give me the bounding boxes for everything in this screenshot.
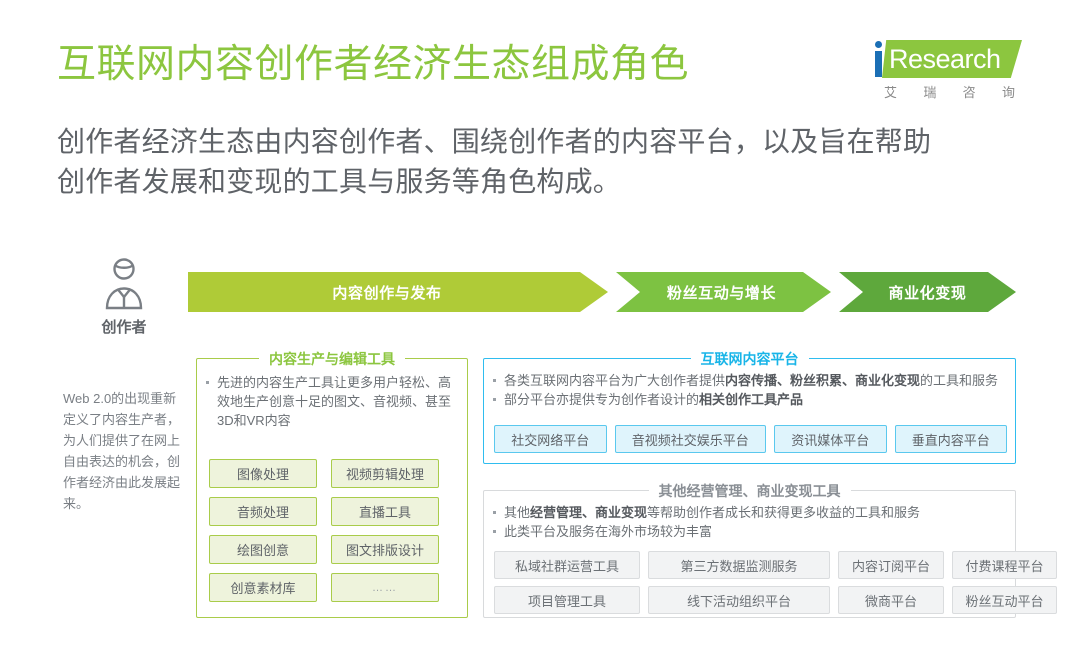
panel-internet-content-platform: 互联网内容平台 各类互联网内容平台为广大创作者提供内容传播、粉丝积累、商业化变现…: [483, 358, 1016, 464]
creator-persona-label: 创作者: [78, 316, 170, 337]
bullet-item: 其他经营管理、商业变现等帮助创作者成长和获得更多收益的工具和服务: [490, 503, 1007, 522]
platform-chip: 垂直内容平台: [895, 425, 1008, 453]
page-subtitle: 创作者经济生态由内容创作者、围绕创作者的内容平台，以及旨在帮助创作者发展和变现的…: [57, 122, 937, 202]
production-tool-chip: 直播工具: [331, 497, 439, 526]
bullet-text: 各类互联网内容平台为广大创作者提供: [504, 373, 725, 388]
production-tool-chip: 图文排版设计: [331, 535, 439, 564]
bullet-emphasis: 内容传播、粉丝积累、商业化变现: [725, 373, 920, 388]
bullet-emphasis: 相关创作工具产品: [699, 392, 803, 407]
bullet-text: 的工具和服务: [920, 373, 998, 388]
bullet-text: 此类平台及服务在海外市场较为丰富: [504, 524, 712, 539]
logo-mark: Research: [872, 40, 1022, 78]
other-tool-chip: 私域社群运营工具: [494, 551, 640, 579]
panel-other-business-tools: 其他经营管理、商业变现工具 其他经营管理、商业变现等帮助创作者成长和获得更多收益…: [483, 490, 1016, 618]
iresearch-logo: Research 艾 瑞 咨 询: [872, 40, 1022, 102]
bullet-item: 先进的内容生产工具让更多用户轻松、高效地生产创意十足的图文、音视频、甚至3D和V…: [203, 373, 455, 430]
process-stage-label-1: 内容创作与发布: [332, 282, 463, 303]
other-tool-chip: 内容订阅平台: [838, 551, 944, 579]
panel-internet-content-platform-legend: 互联网内容平台: [691, 349, 809, 369]
bullet-text: 等帮助创作者成长和获得更多收益的工具和服务: [647, 505, 920, 520]
bullet-text: 先进的内容生产工具让更多用户轻松、高效地生产创意十足的图文、音视频、甚至3D和V…: [217, 375, 451, 428]
other-tool-chip: 付费课程平台: [952, 551, 1057, 579]
bullet-item: 各类互联网内容平台为广大创作者提供内容传播、粉丝积累、商业化变现的工具和服务: [490, 371, 1007, 390]
platform-chip: 资讯媒体平台: [774, 425, 887, 453]
bullet-emphasis: 经营管理、商业变现: [530, 505, 647, 520]
other-tool-chip: 粉丝互动平台: [952, 586, 1057, 614]
panel-other-bullets: 其他经营管理、商业变现等帮助创作者成长和获得更多收益的工具和服务此类平台及服务在…: [490, 503, 1007, 541]
other-tool-chip: 第三方数据监测服务: [648, 551, 830, 579]
other-tool-chip-grid: 私域社群运营工具第三方数据监测服务内容订阅平台付费课程平台项目管理工具线下活动组…: [494, 551, 1007, 614]
bullet-text: 其他: [504, 505, 530, 520]
bullet-item: 部分平台亦提供专为创作者设计的相关创作工具产品: [490, 390, 1007, 409]
production-tool-chip: 创意素材库: [209, 573, 317, 602]
other-tool-chip: 线下活动组织平台: [648, 586, 830, 614]
bullet-item: 此类平台及服务在海外市场较为丰富: [490, 522, 1007, 541]
process-stage-fan-growth: 粉丝互动与增长: [616, 272, 831, 312]
production-tool-chip: ……: [331, 573, 439, 602]
process-stage-label-3: 商业化变现: [876, 282, 978, 303]
panel-production-tools-bullets: 先进的内容生产工具让更多用户轻松、高效地生产创意十足的图文、音视频、甚至3D和V…: [203, 373, 455, 430]
page-header: 互联网内容创作者经济生态组成角色 创作者经济生态由内容创作者、围绕创作者的内容平…: [0, 0, 1080, 215]
logo-cn-char-2: 瑞: [923, 82, 937, 101]
production-tool-chip-grid: 图像处理视频剪辑处理音频处理直播工具绘图创意图文排版设计创意素材库……: [209, 459, 457, 602]
process-stage-content-creation: 内容创作与发布: [188, 272, 608, 312]
production-tool-chip: 图像处理: [209, 459, 317, 488]
platform-chip: 音视频社交娱乐平台: [615, 425, 767, 453]
creator-persona: 创作者: [78, 258, 170, 337]
creator-description-note: Web 2.0的出现重新定义了内容生产者，为人们提供了在网上自由表达的机会，创作…: [63, 388, 181, 514]
logo-cn-char-4: 询: [1002, 82, 1016, 101]
platform-chip: 社交网络平台: [494, 425, 607, 453]
panel-production-tools: 内容生产与编辑工具 先进的内容生产工具让更多用户轻松、高效地生产创意十足的图文、…: [196, 358, 468, 618]
other-tool-chip: 项目管理工具: [494, 586, 640, 614]
production-tool-chip: 音频处理: [209, 497, 317, 526]
logo-cn-char-3: 咨: [963, 82, 977, 101]
logo-cn-char-1: 艾: [884, 82, 898, 101]
production-tool-chip: 绘图创意: [209, 535, 317, 564]
logo-wordmark: Research: [889, 44, 1001, 74]
platform-chip-row: 社交网络平台音视频社交娱乐平台资讯媒体平台垂直内容平台: [494, 425, 1007, 453]
other-tool-chip: 微商平台: [838, 586, 944, 614]
logo-chinese-name: 艾 瑞 咨 询: [884, 82, 1016, 101]
panel-production-tools-legend: 内容生产与编辑工具: [259, 349, 405, 369]
logo-i-stem-icon: [875, 51, 882, 77]
panel-other-business-tools-legend: 其他经营管理、商业变现工具: [649, 481, 851, 501]
production-tool-chip: 视频剪辑处理: [331, 459, 439, 488]
process-chevron-band: 内容创作与发布 粉丝互动与增长 商业化变现: [188, 272, 1016, 312]
process-stage-label-2: 粉丝互动与增长: [657, 282, 790, 303]
panel-platform-bullets: 各类互联网内容平台为广大创作者提供内容传播、粉丝积累、商业化变现的工具和服务部分…: [490, 371, 1007, 409]
process-stage-monetization: 商业化变现: [839, 272, 1016, 312]
creator-person-icon: [101, 258, 147, 310]
page-title: 互联网内容创作者经济生态组成角色: [57, 40, 689, 90]
logo-i-dot-icon: [875, 41, 882, 48]
bullet-text: 部分平台亦提供专为创作者设计的: [504, 392, 699, 407]
